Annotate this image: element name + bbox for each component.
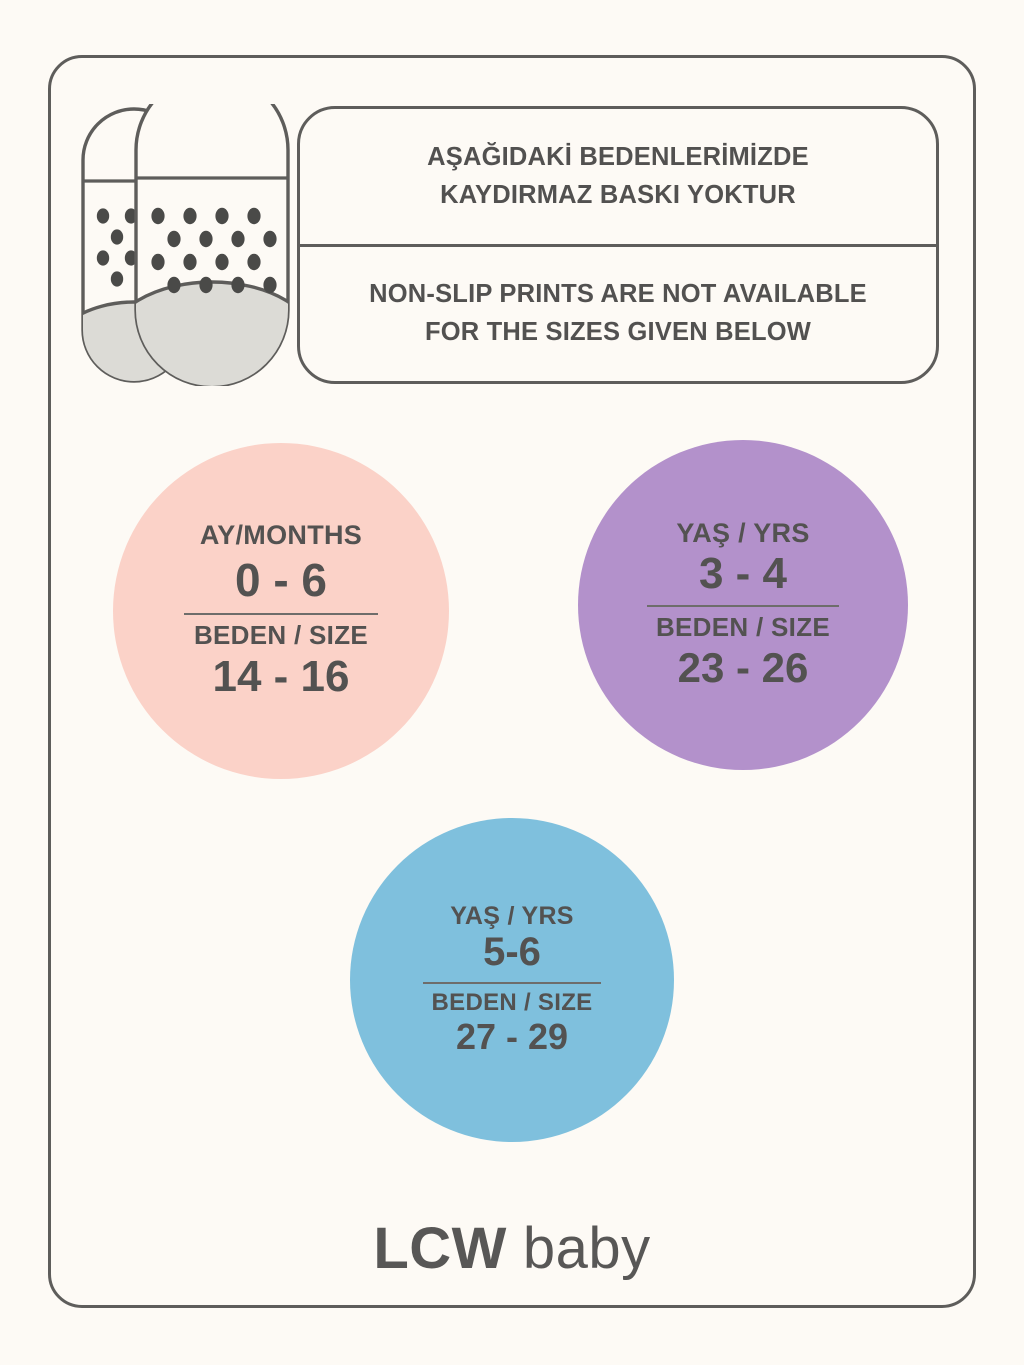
age-value: 0 - 6 (235, 555, 327, 607)
non-slip-notice-box: AŞAĞIDAKİ BEDENLERİMİZDE KAYDIRMAZ BASKI… (297, 106, 939, 384)
age-value: 5-6 (483, 930, 541, 975)
size-label: BEDEN / SIZE (432, 990, 593, 1016)
circle-divider (184, 613, 378, 615)
notice-turkish-line-2: KAYDIRMAZ BASKI YOKTUR (440, 181, 796, 210)
size-circle-years-5-6: YAŞ / YRS 5-6 BEDEN / SIZE 27 - 29 (350, 818, 674, 1142)
size-circle-months-0-6: AY/MONTHS 0 - 6 BEDEN / SIZE 14 - 16 (113, 443, 449, 779)
circle-divider (423, 982, 601, 984)
size-value: 27 - 29 (456, 1017, 568, 1057)
notice-english-line-1: NON-SLIP PRINTS ARE NOT AVAILABLE (369, 280, 867, 309)
notice-turkish: AŞAĞIDAKİ BEDENLERİMİZDE KAYDIRMAZ BASKI… (300, 109, 936, 247)
brand-logo-primary: LCW (373, 1216, 507, 1281)
notice-turkish-line-1: AŞAĞIDAKİ BEDENLERİMİZDE (427, 143, 809, 172)
age-value: 3 - 4 (699, 549, 787, 598)
notice-english: NON-SLIP PRINTS ARE NOT AVAILABLE FOR TH… (300, 247, 936, 382)
brand-logo: LCWbaby (0, 1215, 1024, 1282)
size-label: BEDEN / SIZE (656, 613, 830, 642)
age-label: YAŞ / YRS (676, 519, 809, 549)
non-slip-socks-illustration (78, 104, 294, 386)
circle-divider (647, 605, 839, 607)
size-value: 14 - 16 (213, 652, 350, 701)
brand-logo-secondary: baby (523, 1216, 651, 1281)
size-chart-page: AŞAĞIDAKİ BEDENLERİMİZDE KAYDIRMAZ BASKI… (0, 0, 1024, 1365)
age-label: YAŞ / YRS (450, 903, 574, 931)
size-circle-years-3-4: YAŞ / YRS 3 - 4 BEDEN / SIZE 23 - 26 (578, 440, 908, 770)
age-label: AY/MONTHS (200, 521, 362, 551)
size-value: 23 - 26 (678, 644, 809, 691)
notice-english-line-2: FOR THE SIZES GIVEN BELOW (425, 318, 811, 347)
size-label: BEDEN / SIZE (194, 621, 368, 650)
